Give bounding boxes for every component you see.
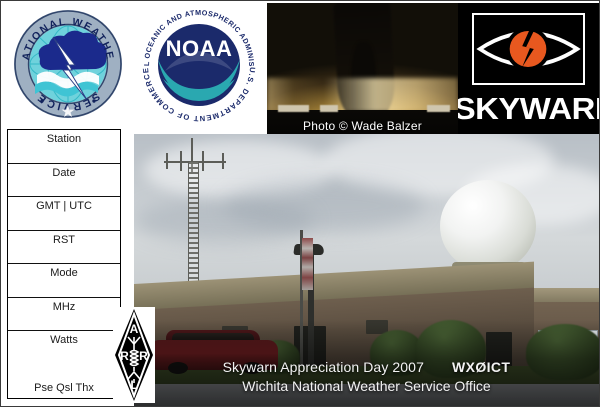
- pse-qsl-thx-note: Pse Qsl Thx: [8, 382, 120, 394]
- yagi-element: [166, 153, 168, 169]
- table-row[interactable]: Mode: [8, 264, 120, 298]
- caption-line-event: Skywarn Appreciation Day 2007WXØICT: [134, 359, 599, 375]
- table-row[interactable]: Watts Pse Qsl Thx: [8, 331, 120, 399]
- photo-caption: Skywarn Appreciation Day 2007WXØICT Wich…: [134, 359, 599, 394]
- american-flag: [302, 238, 313, 290]
- yagi-element: [180, 151, 182, 171]
- national-weather-service-seal: NATIONAL WEATHER SERVICE: [9, 5, 127, 123]
- tornado-photo-credit: Photo © Wade Balzer: [267, 119, 458, 133]
- caption-event-text: Skywarn Appreciation Day 2007: [223, 359, 424, 375]
- table-row[interactable]: Date: [8, 164, 120, 198]
- row-label-watts: Watts: [8, 334, 120, 346]
- caption-callsign: WXØICT: [452, 359, 510, 375]
- qso-log-table: Station Date GMT | UTC RST Mode MHz Watt…: [7, 129, 121, 399]
- yagi-element: [222, 153, 224, 169]
- row-label-station: Station: [8, 133, 120, 145]
- noaa-seal: NOAA NATIONAL OCEANIC AND ATMOSPHERIC AD…: [137, 7, 261, 123]
- tornado-building: [320, 105, 337, 112]
- svg-text:R: R: [120, 349, 129, 363]
- table-row[interactable]: Station: [8, 130, 120, 164]
- tornado-photo: Photo © Wade Balzer: [267, 3, 458, 134]
- table-row[interactable]: RST: [8, 231, 120, 265]
- qsl-card: NATIONAL WEATHER SERVICE NOAA: [0, 0, 600, 407]
- row-label-mode: Mode: [8, 267, 120, 279]
- tornado-building: [278, 105, 309, 112]
- table-row[interactable]: GMT | UTC: [8, 197, 120, 231]
- radar-radome: [440, 180, 536, 272]
- caption-line-office: Wichita National Weather Service Office: [134, 378, 599, 394]
- svg-text:R: R: [139, 349, 148, 363]
- svg-text:NOAA: NOAA: [166, 36, 233, 61]
- arrl-diamond-logo: A R R L: [113, 307, 155, 403]
- cloud: [134, 198, 314, 244]
- row-label-mhz: MHz: [8, 301, 120, 313]
- row-label-gmt-utc: GMT | UTC: [8, 200, 120, 212]
- yagi-element: [202, 151, 204, 171]
- skywarn-logo: SKYWARN: [458, 3, 599, 134]
- skywarn-eye-icon: [472, 13, 585, 85]
- skywarn-wordmark: SKYWARN: [458, 91, 599, 127]
- table-row[interactable]: MHz: [8, 298, 120, 332]
- row-label-rst: RST: [8, 234, 120, 246]
- svg-text:A: A: [130, 322, 139, 336]
- nws-office-photo: Skywarn Appreciation Day 2007WXØICT Wich…: [134, 134, 599, 406]
- tornado-building: [427, 105, 450, 112]
- row-label-date: Date: [8, 167, 120, 179]
